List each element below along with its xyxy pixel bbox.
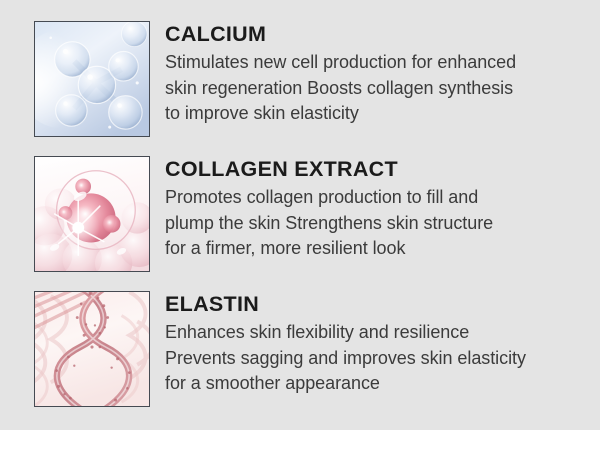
ingredient-description: Promotes collagen production to fill and…	[165, 185, 570, 262]
ingredient-list: CALCIUM Stimulates new cell production f…	[0, 0, 600, 430]
ingredient-text-collagen-extract: COLLAGEN EXTRACT Promotes collagen produ…	[165, 156, 570, 262]
description-line: Prevents sagging and improves skin elast…	[165, 346, 570, 372]
ingredient-benefits-panel: CALCIUM Stimulates new cell production f…	[0, 0, 600, 450]
collagen-pink-bubbles-image	[34, 156, 150, 272]
description-line: for a firmer, more resilient look	[165, 236, 570, 262]
description-line: Enhances skin flexibility and resilience	[165, 320, 570, 346]
ingredient-text-elastin: ELASTIN Enhances skin flexibility and re…	[165, 291, 570, 397]
ingredient-title: COLLAGEN EXTRACT	[165, 156, 570, 182]
ingredient-title: ELASTIN	[165, 291, 570, 317]
calcium-molecule-bubbles-image	[34, 21, 150, 137]
elastin-dna-helix-image	[34, 291, 150, 407]
ingredient-text-calcium: CALCIUM Stimulates new cell production f…	[165, 21, 570, 127]
description-line: for a smoother appearance	[165, 371, 570, 397]
description-line: Promotes collagen production to fill and	[165, 185, 570, 211]
ingredient-description: Stimulates new cell production for enhan…	[165, 50, 570, 127]
description-line: plump the skin Strengthens skin structur…	[165, 211, 570, 237]
description-line: Stimulates new cell production for enhan…	[165, 50, 570, 76]
ingredient-description: Enhances skin flexibility and resilience…	[165, 320, 570, 397]
description-line: skin regeneration Boosts collagen synthe…	[165, 76, 570, 102]
ingredient-title: CALCIUM	[165, 21, 570, 47]
description-line: to improve skin elasticity	[165, 101, 570, 127]
